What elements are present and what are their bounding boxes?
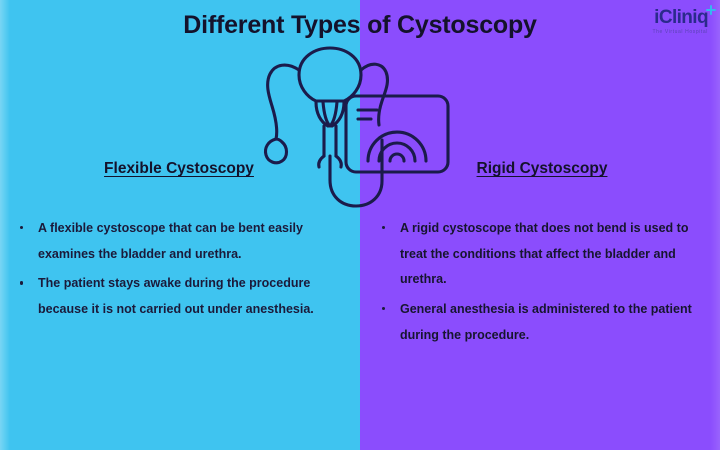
medical-plus-icon bbox=[706, 5, 716, 15]
monitor-arc-middle bbox=[379, 143, 415, 161]
brand-name-text: iCliniq bbox=[654, 7, 708, 28]
list-item: A rigid cystoscope that does not bend is… bbox=[382, 216, 702, 293]
brand-logo[interactable]: iCliniq The Virtual Hospital bbox=[652, 8, 708, 35]
left-ureter bbox=[268, 65, 299, 139]
bullet-dot-icon bbox=[382, 226, 385, 229]
page-title: Different Types of Cystoscopy bbox=[0, 11, 720, 40]
list-item-text: General anesthesia is administered to th… bbox=[400, 302, 692, 342]
monitor-arc-outer bbox=[368, 132, 426, 161]
list-item: The patient stays awake during the proce… bbox=[20, 271, 338, 322]
list-item-text: A flexible cystoscope that can be bent e… bbox=[38, 221, 303, 261]
bladder-shape bbox=[299, 48, 361, 101]
brand-tagline: The Virtual Hospital bbox=[652, 30, 708, 35]
flexible-cystoscopy-column: Flexible Cystoscopy A flexible cystoscop… bbox=[0, 160, 360, 327]
rigid-cystoscopy-column: Rigid Cystoscopy A rigid cystoscope that… bbox=[360, 160, 720, 352]
brand-name: iCliniq bbox=[654, 8, 708, 27]
list-item-text: A rigid cystoscope that does not bend is… bbox=[400, 221, 688, 286]
bullet-dot-icon bbox=[20, 226, 23, 229]
flexible-cystoscopy-bullet-list: A flexible cystoscope that can be bent e… bbox=[20, 216, 338, 323]
list-item-text: The patient stays awake during the proce… bbox=[38, 276, 314, 316]
rigid-cystoscopy-bullet-list: A rigid cystoscope that does not bend is… bbox=[382, 216, 702, 348]
rigid-cystoscopy-heading: Rigid Cystoscopy bbox=[360, 160, 720, 178]
list-item: A flexible cystoscope that can be bent e… bbox=[20, 216, 338, 267]
list-item: General anesthesia is administered to th… bbox=[382, 297, 702, 348]
bullet-dot-icon bbox=[20, 281, 23, 284]
flexible-cystoscopy-heading: Flexible Cystoscopy bbox=[0, 160, 360, 178]
bullet-dot-icon bbox=[382, 307, 385, 310]
infographic-canvas: Different Types of Cystoscopy iCliniq Th… bbox=[0, 0, 720, 450]
